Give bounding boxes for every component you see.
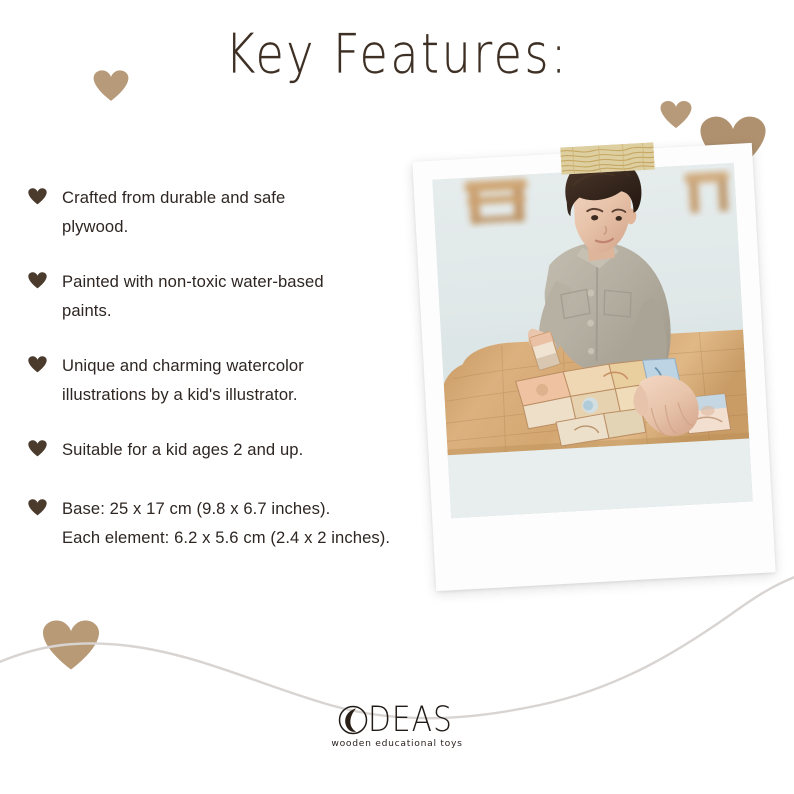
feature-text: Unique and charming watercolor illustrat… [62, 351, 304, 409]
heart-icon-top-left [93, 68, 129, 102]
list-item: Painted with non-toxic water-based paint… [28, 267, 448, 325]
feature-text: Base: 25 x 17 cm (9.8 x 6.7 inches). Eac… [62, 494, 390, 552]
feature-text: Painted with non-toxic water-based paint… [62, 267, 324, 325]
feature-text: Crafted from durable and safe plywood. [62, 183, 285, 241]
list-item: Suitable for a kid ages 2 and up. [28, 435, 448, 464]
heart-icon-bullet [28, 439, 47, 457]
heart-icon-bullet [28, 271, 47, 289]
product-photo [432, 163, 752, 518]
heart-icon-bullet [28, 498, 47, 516]
heart-icon-bullet [28, 355, 47, 373]
heart-icon-bullet [28, 187, 47, 205]
moon-circle-icon [338, 705, 368, 735]
heart-icon-top-right-small [660, 99, 692, 129]
logo-mark-row: DEAS [0, 705, 794, 735]
features-list: Crafted from durable and safe plywood. P… [28, 183, 448, 552]
list-item: Unique and charming watercolor illustrat… [28, 351, 448, 409]
washi-tape [560, 142, 654, 174]
list-item: Crafted from durable and safe plywood. [28, 183, 448, 241]
brand-logo: DEAS wooden educational toys [0, 705, 794, 749]
logo-wordmark: DEAS [368, 703, 453, 737]
polaroid-frame [412, 143, 775, 591]
heart-icon-bottom-left [42, 617, 100, 671]
slide-canvas: Key Features: [0, 0, 794, 794]
list-item: Base: 25 x 17 cm (9.8 x 6.7 inches). Eac… [28, 494, 448, 552]
feature-text: Suitable for a kid ages 2 and up. [62, 435, 303, 464]
